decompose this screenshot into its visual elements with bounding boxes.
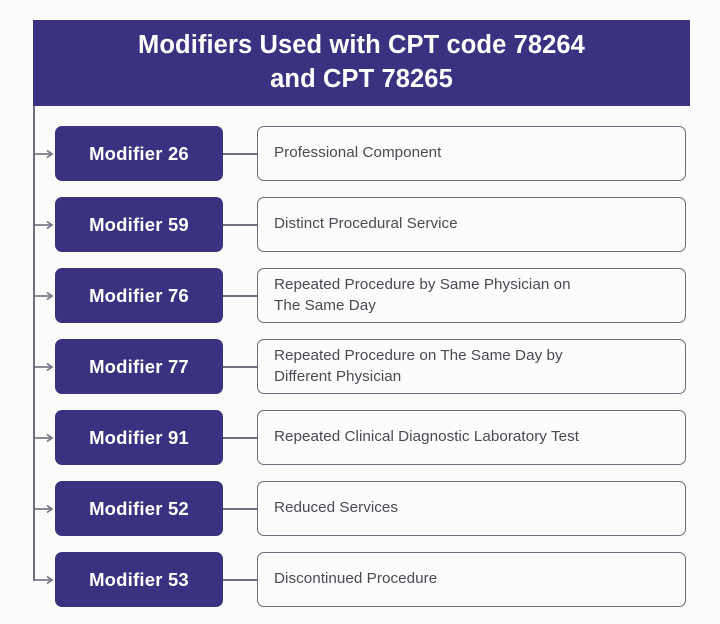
modifier-badge[interactable]: Modifier 77 (55, 339, 223, 394)
modifier-badge[interactable]: Modifier 76 (55, 268, 223, 323)
modifier-badge-label: Modifier 59 (89, 214, 189, 236)
description-box[interactable]: Repeated Procedure on The Same Day by Di… (257, 339, 686, 394)
arrow-icon (34, 290, 56, 302)
infographic-canvas: Modifiers Used with CPT code 78264 and C… (0, 0, 720, 624)
page-title: Modifiers Used with CPT code 78264 and C… (138, 29, 585, 96)
arrow-icon (34, 219, 56, 231)
arrow-icon (34, 361, 56, 373)
badge-box-connector (223, 437, 257, 439)
modifier-badge[interactable]: Modifier 26 (55, 126, 223, 181)
modifier-badge-label: Modifier 53 (89, 569, 189, 591)
arrow-icon (34, 148, 56, 160)
modifier-badge[interactable]: Modifier 59 (55, 197, 223, 252)
modifier-badge-label: Modifier 26 (89, 143, 189, 165)
modifier-badge-label: Modifier 52 (89, 498, 189, 520)
description-box[interactable]: Distinct Procedural Service (257, 197, 686, 252)
modifier-badge-label: Modifier 77 (89, 356, 189, 378)
description-text: Discontinued Procedure (274, 569, 437, 590)
description-box[interactable]: Repeated Procedure by Same Physician on … (257, 268, 686, 323)
connector-spine (33, 106, 35, 581)
header-banner: Modifiers Used with CPT code 78264 and C… (33, 20, 690, 106)
description-box[interactable]: Discontinued Procedure (257, 552, 686, 607)
modifier-badge-label: Modifier 76 (89, 285, 189, 307)
modifier-badge[interactable]: Modifier 52 (55, 481, 223, 536)
badge-box-connector (223, 224, 257, 226)
description-text: Distinct Procedural Service (274, 214, 458, 235)
description-text: Repeated Procedure by Same Physician on … (274, 275, 571, 317)
description-box[interactable]: Repeated Clinical Diagnostic Laboratory … (257, 410, 686, 465)
badge-box-connector (223, 579, 257, 581)
badge-box-connector (223, 153, 257, 155)
badge-box-connector (223, 366, 257, 368)
description-box[interactable]: Reduced Services (257, 481, 686, 536)
modifier-badge-label: Modifier 91 (89, 427, 189, 449)
badge-box-connector (223, 508, 257, 510)
modifier-badge[interactable]: Modifier 91 (55, 410, 223, 465)
arrow-icon (34, 432, 56, 444)
description-text: Reduced Services (274, 498, 398, 519)
modifier-badge[interactable]: Modifier 53 (55, 552, 223, 607)
arrow-icon (34, 574, 56, 586)
description-text: Repeated Clinical Diagnostic Laboratory … (274, 427, 579, 448)
badge-box-connector (223, 295, 257, 297)
description-text: Professional Component (274, 143, 441, 164)
arrow-icon (34, 503, 56, 515)
description-text: Repeated Procedure on The Same Day by Di… (274, 346, 563, 388)
description-box[interactable]: Professional Component (257, 126, 686, 181)
